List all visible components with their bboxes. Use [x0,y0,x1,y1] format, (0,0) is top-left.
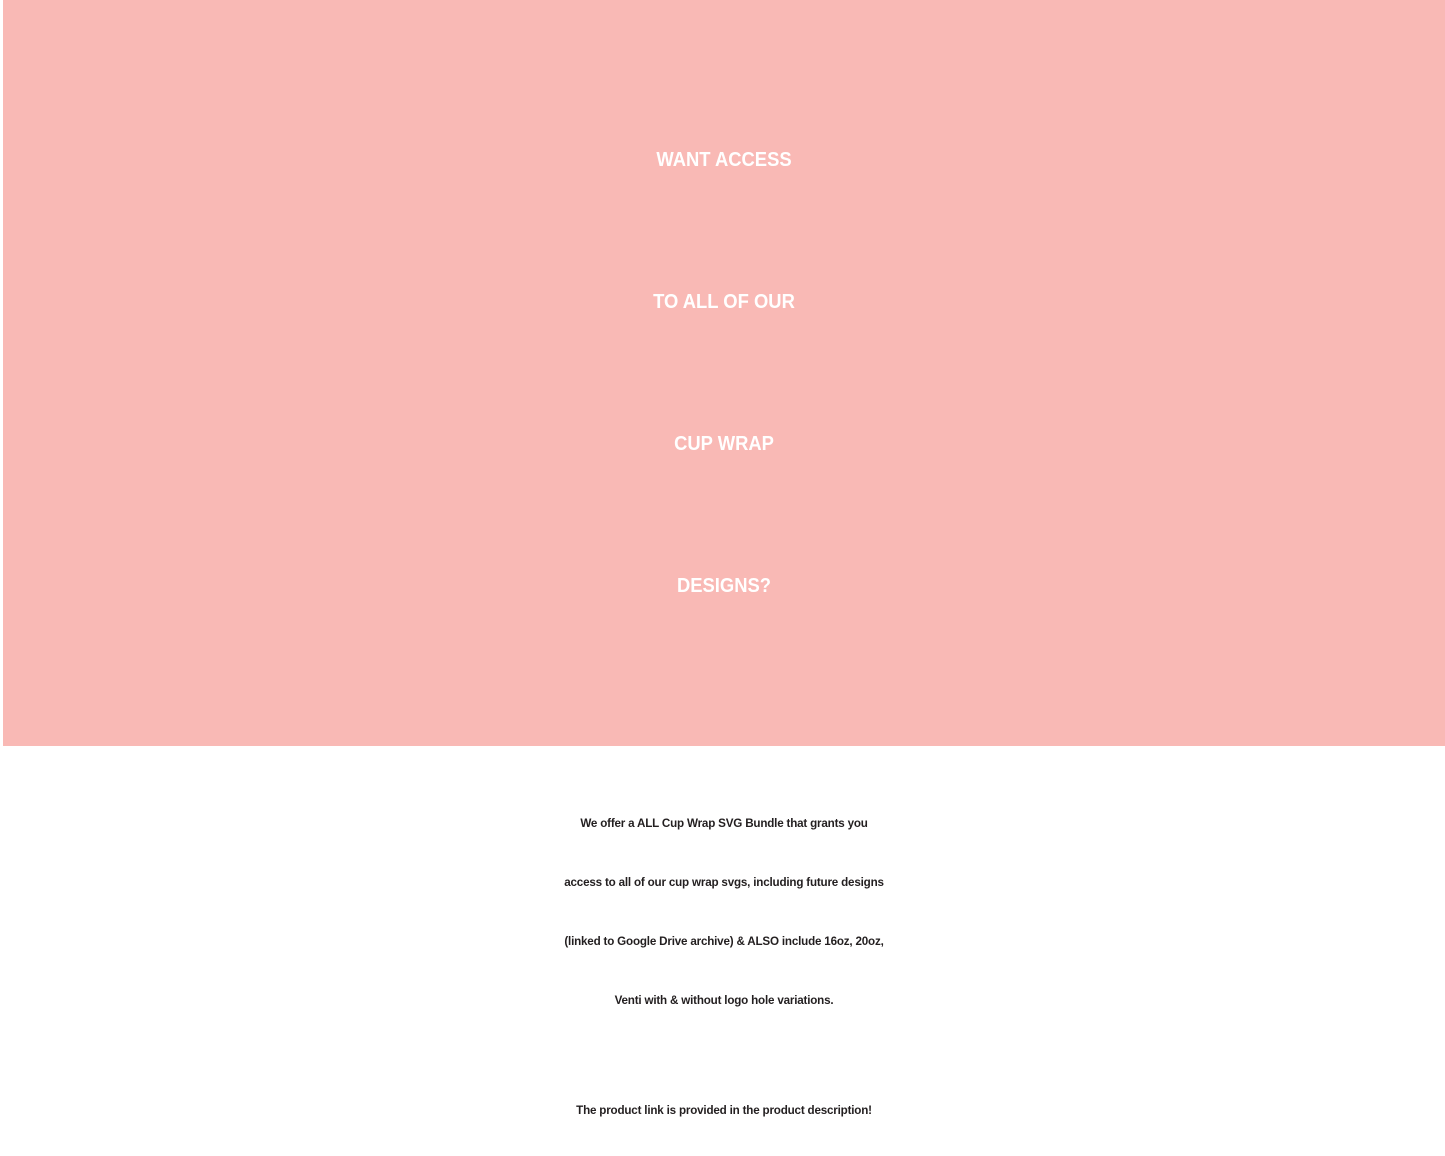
description-block: We offer a ALL Cup Wrap SVG Bundle that … [3,746,1445,1156]
promo-poster: WANT ACCESS TO ALL OF OUR CUP WRAP DESIG… [0,0,1445,1156]
headline-line-2: TO ALL OF OUR [158,231,1290,373]
closing-call-to-action: The product link is provided in the prod… [94,1030,1355,1136]
description-line-2: access to all of our cup wrap svgs, incl… [94,853,1355,912]
description-line-4: Venti with & without logo hole variation… [94,971,1355,1030]
description-line-3: (linked to Google Drive archive) & ALSO … [94,912,1355,971]
headline-line-3: CUP WRAP [158,373,1290,515]
page-title: WANT ACCESS TO ALL OF OUR CUP WRAP DESIG… [158,89,1290,657]
description-paragraph: We offer a ALL Cup Wrap SVG Bundle that … [94,794,1355,1030]
headline-line-1: WANT ACCESS [158,89,1290,231]
hero-banner: WANT ACCESS TO ALL OF OUR CUP WRAP DESIG… [3,0,1445,746]
headline-line-4: DESIGNS? [158,515,1290,657]
description-line-1: We offer a ALL Cup Wrap SVG Bundle that … [94,794,1355,853]
